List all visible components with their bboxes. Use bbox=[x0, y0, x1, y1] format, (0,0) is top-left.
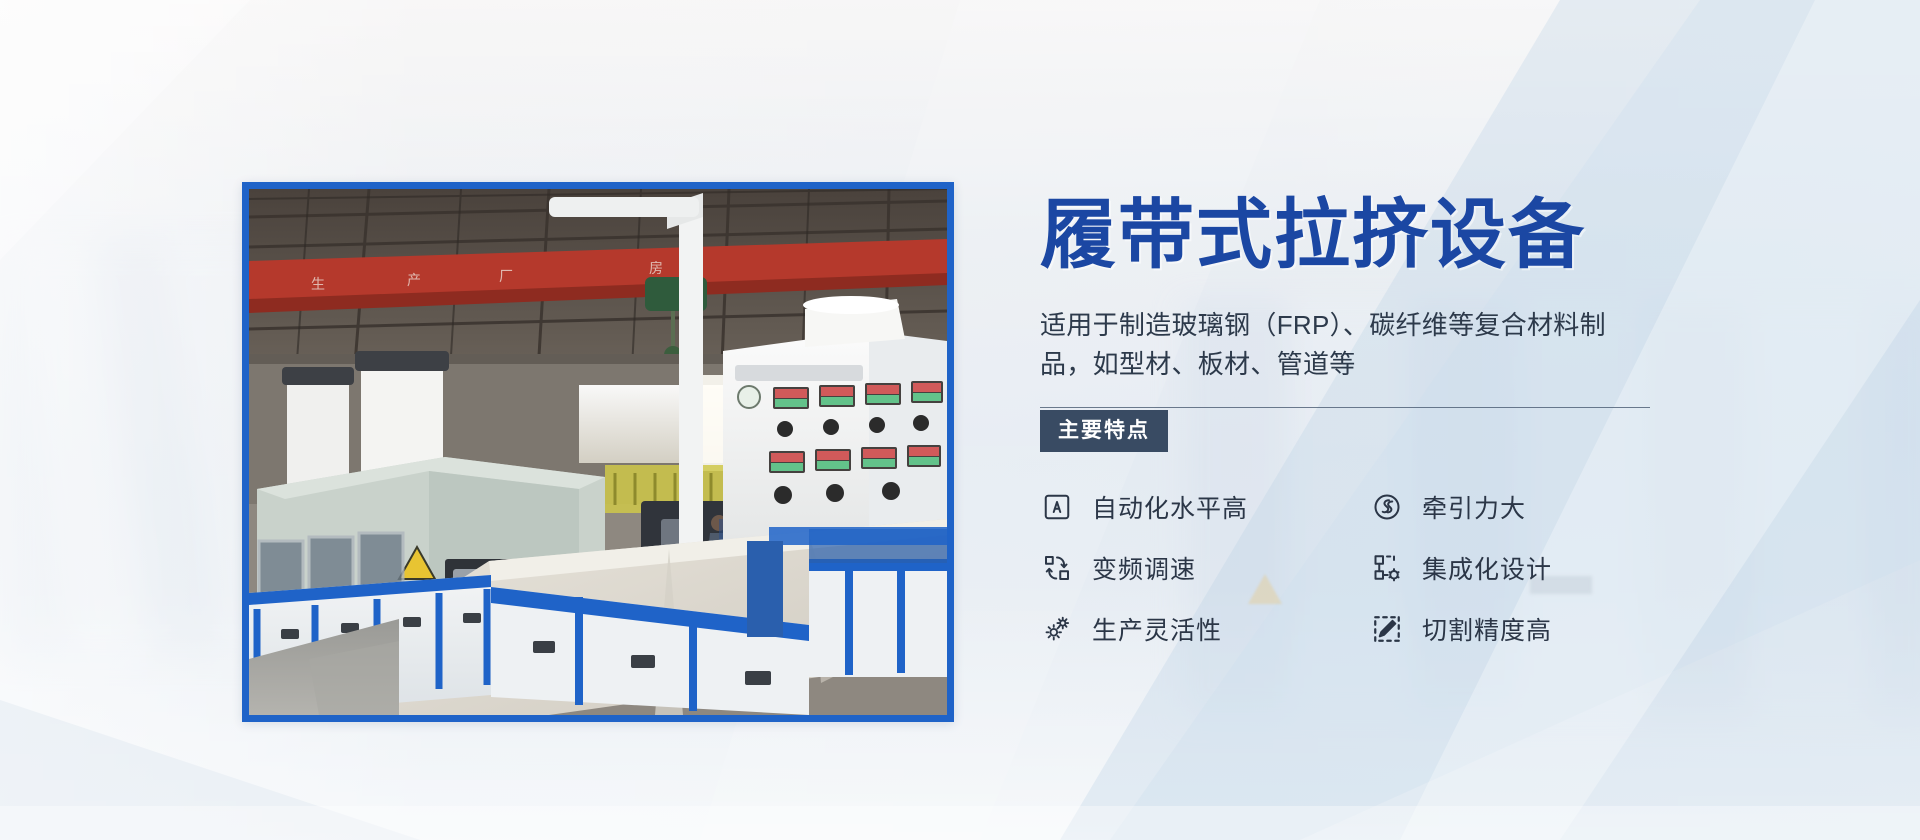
feature-item-flexibility: 生产灵活性 bbox=[1040, 611, 1370, 647]
feature-label: 牵引力大 bbox=[1422, 489, 1526, 525]
banner-subtitle: 适用于制造玻璃钢（FRP）、碳纤维等复合材料制品，如型材、板材、管道等 bbox=[1040, 306, 1640, 385]
feature-label: 切割精度高 bbox=[1422, 611, 1552, 647]
photo-scene-label: 生 bbox=[311, 277, 325, 293]
feature-item-cutting-precision: 切割精度高 bbox=[1370, 611, 1700, 647]
feature-label: 生产灵活性 bbox=[1092, 611, 1222, 647]
feature-list: 自动化水平高 牵引力大 bbox=[1040, 477, 1660, 660]
feature-label: 自动化水平高 bbox=[1092, 489, 1248, 525]
svg-text:厂: 厂 bbox=[499, 269, 513, 285]
page-title: 履带式拉挤设备 bbox=[1040, 196, 1660, 276]
main-features-badge: 主要特点 bbox=[1040, 410, 1168, 452]
letter-a-square-icon bbox=[1040, 490, 1074, 524]
gears-icon bbox=[1040, 612, 1074, 646]
banner-content: 履带式拉挤设备 适用于制造玻璃钢（FRP）、碳纤维等复合材料制品，如型材、板材、… bbox=[1040, 196, 1660, 660]
integration-node-icon bbox=[1370, 551, 1404, 585]
feature-label: 集成化设计 bbox=[1422, 550, 1552, 586]
feature-item-frequency: 变频调速 bbox=[1040, 550, 1370, 586]
feature-label: 变频调速 bbox=[1092, 550, 1196, 586]
product-photo-card: 生 产 厂 房 bbox=[242, 182, 954, 722]
feature-item-automation: 自动化水平高 bbox=[1040, 489, 1370, 525]
svg-text:产: 产 bbox=[407, 273, 421, 289]
pen-dashed-box-icon bbox=[1370, 612, 1404, 646]
feature-item-traction: 牵引力大 bbox=[1370, 489, 1700, 525]
frequency-swap-icon bbox=[1040, 551, 1074, 585]
feature-item-integration: 集成化设计 bbox=[1370, 550, 1700, 586]
traction-circle-icon bbox=[1370, 490, 1404, 524]
svg-text:房: 房 bbox=[649, 261, 663, 277]
product-photo: 生 产 厂 房 bbox=[249, 189, 947, 715]
divider-and-badge: 主要特点 bbox=[1040, 407, 1660, 457]
horizontal-divider bbox=[1040, 407, 1650, 408]
product-banner: 生 产 厂 房 bbox=[0, 0, 1920, 840]
